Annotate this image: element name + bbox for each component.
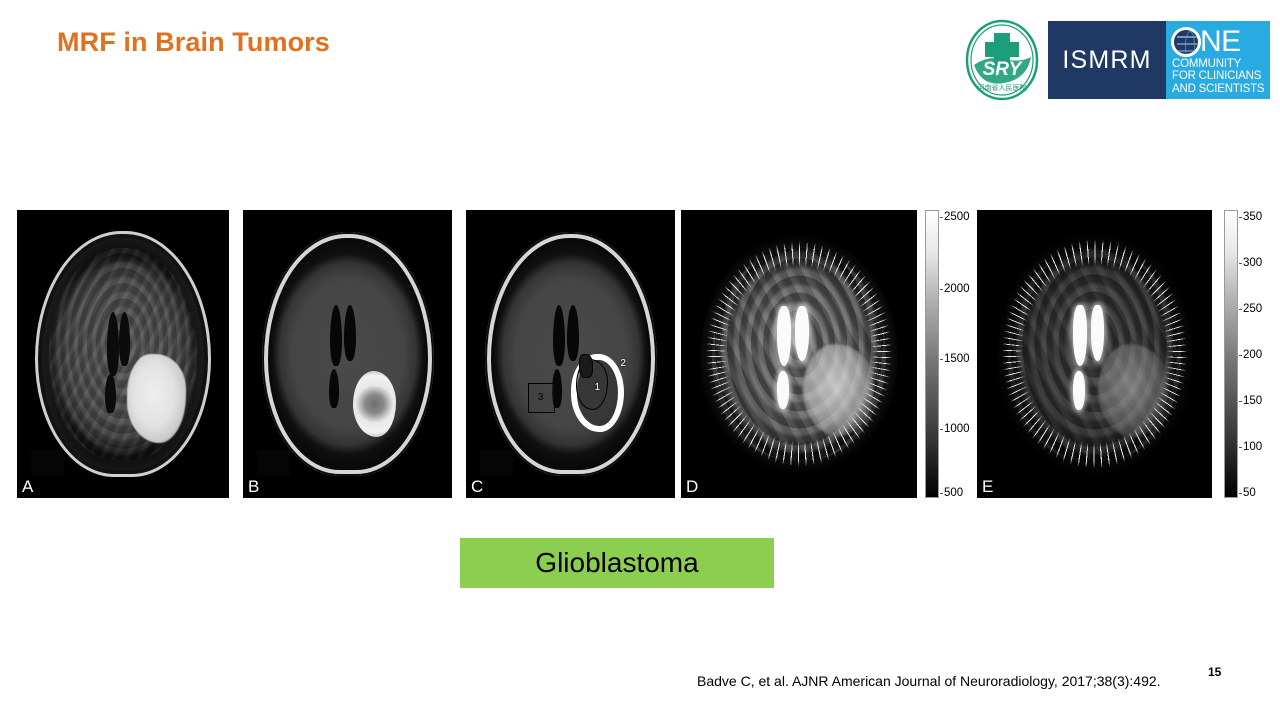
colorbar-e-tick-150: 150 [1243,396,1262,408]
roi-label-2: 2 [620,359,626,369]
one-wordmark: NE [1171,26,1266,58]
colorbar-e-ticks: 350 300 250 200 150 100 50 [1243,210,1280,498]
hospital-logo-subtitle: 河南省人民医院 [978,83,1027,92]
brain-image-b [262,232,434,476]
panel-label-d: D [686,477,698,496]
colorbar-d-tick-1000: 1000 [944,424,970,436]
colorbar-e [1224,210,1238,498]
ventricle-right-b [344,305,356,361]
mri-panel-a: A [17,210,229,498]
colorbar-e-tick-100: 100 [1243,442,1262,454]
page-number: 15 [1208,665,1221,679]
mri-panel-c: 1 2 3 C [466,210,675,498]
slide: MRF in Brain Tumors SRY 河南省人民医院 ISMRM NE [0,0,1280,720]
one-community-block: NE COMMUNITY FOR CLINICIANS AND SCIENTIS… [1166,21,1270,99]
mri-panel-d: D [681,210,917,498]
corner-artifact-a [31,450,64,476]
brain-image-a [35,231,211,477]
svg-text:SRY: SRY [983,59,1024,80]
tagline-line-2: FOR CLINICIANS [1172,70,1266,83]
brain-image-e [997,232,1193,476]
tagline-line-3: AND SCIENTISTS [1172,83,1266,96]
ismrm-label: ISMRM [1062,46,1151,75]
roi-label-1: 1 [595,383,601,393]
ismrm-wordmark: ISMRM [1048,21,1166,99]
panel-label-b: B [248,477,259,496]
corner-artifact-b [257,450,290,476]
citation-text: Badve C, et al. AJNR American Journal of… [697,673,1161,689]
mri-panel-e: E [977,210,1212,498]
ventricle-right-c [567,305,579,361]
one-ne-label: NE [1200,27,1241,57]
ring-enhancing-lesion-b [353,371,396,437]
roi-1-inner-contour [579,354,593,378]
colorbar-d-tick-500: 500 [944,488,963,500]
edge-artifact-e [1000,237,1188,471]
panel-label-e: E [982,477,993,496]
globe-icon [1171,27,1201,57]
diagnosis-box: Glioblastoma [460,538,774,588]
edge-artifact-d [704,239,894,469]
brain-image-c: 1 2 3 [485,232,657,476]
ventricle-left-b [330,305,342,366]
panel-label-a: A [22,477,33,496]
roi-label-3: 3 [538,393,544,403]
brain-image-d [700,234,898,474]
colorbar-d [925,210,939,498]
ismrm-one-logo: ISMRM NE COMMUNITY FOR CLINICIANS AND SC… [1048,21,1270,99]
page-title: MRF in Brain Tumors [57,27,330,58]
corner-artifact-c [480,450,513,476]
flair-hyperintense-lesion [127,354,187,443]
colorbar-e-tick-350: 350 [1243,212,1262,224]
ventricle-left-c [553,305,565,366]
logo-row: SRY 河南省人民医院 ISMRM NE COMMUNITY FOR CLINI… [964,18,1270,102]
figure-panel-strip: A B 1 [0,210,1280,498]
colorbar-e-tick-250: 250 [1243,304,1262,316]
colorbar-d-tick-1500: 1500 [944,354,970,366]
panel-label-c: C [471,477,483,496]
ventricle-right-a [119,312,130,366]
hospital-logo: SRY 河南省人民医院 [964,19,1040,101]
colorbar-e-tick-300: 300 [1243,258,1262,270]
mri-panel-b: B [243,210,452,498]
colorbar-d-tick-2000: 2000 [944,284,970,296]
ventricle-occipital-a [105,374,116,413]
diagnosis-label: Glioblastoma [535,547,698,579]
colorbar-d-tick-2500: 2500 [944,212,970,224]
colorbar-e-tick-50: 50 [1243,488,1256,500]
tagline-line-1: COMMUNITY [1172,58,1266,71]
colorbar-e-tick-200: 200 [1243,350,1262,362]
